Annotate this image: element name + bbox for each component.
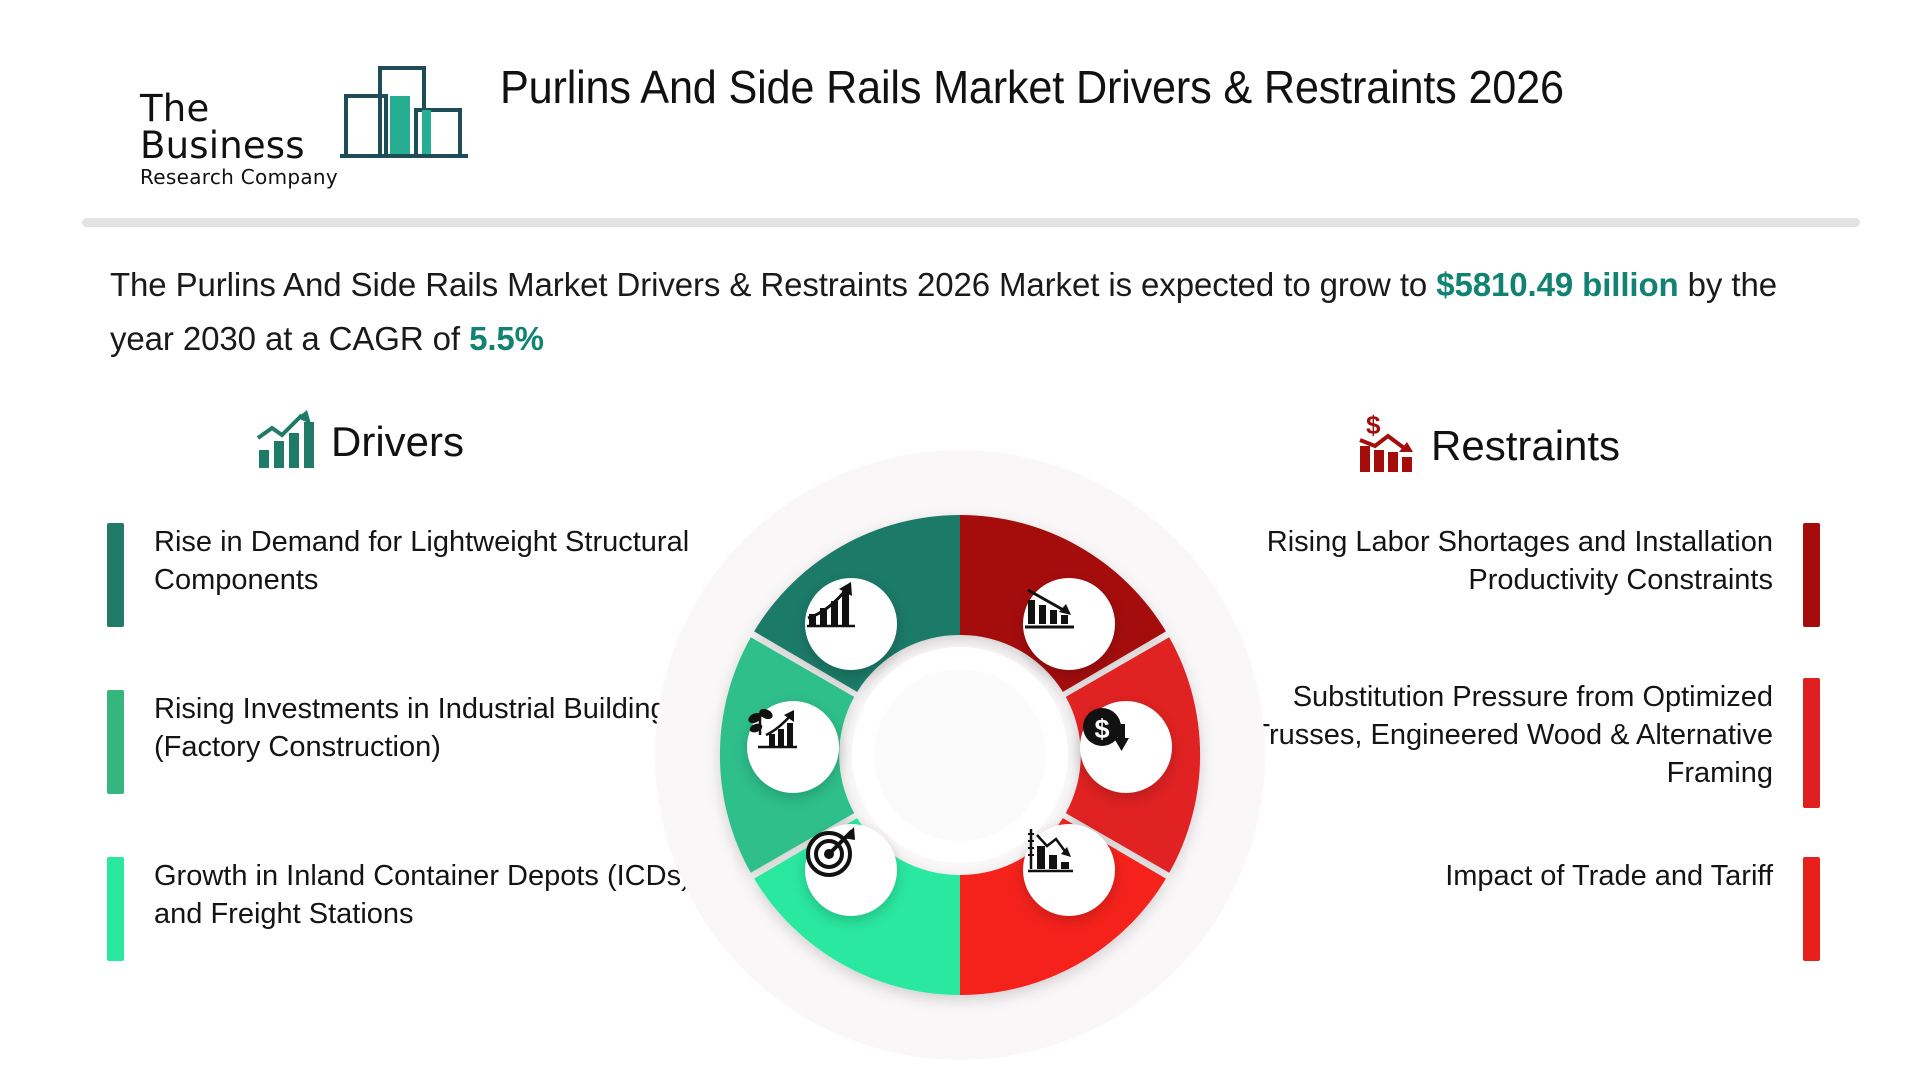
declining-bar-chart-arrow-icon xyxy=(1023,578,1115,670)
target-dartboard-icon xyxy=(805,824,897,916)
header-divider xyxy=(82,218,1860,227)
plant-growth-bar-chart-icon xyxy=(747,701,839,793)
driver-text-2: Rising Investments in Industrial Buildin… xyxy=(154,690,707,794)
summary-part-1: The Purlins And Side Rails Market Driver… xyxy=(110,266,1436,303)
driver-text-3: Growth in Inland Container Depots (ICDs)… xyxy=(154,857,727,961)
driver-text-1: Rise in Demand for Lightweight Structura… xyxy=(154,523,707,627)
falling-bar-chart-dollar-icon: $ xyxy=(1355,412,1417,479)
restraint-item-2: Substitution Pressure from Optimized Tru… xyxy=(1180,678,1820,808)
dollar-down-arrow-icon: $ xyxy=(1080,701,1172,793)
declining-line-bar-chart-icon xyxy=(1023,824,1115,916)
drivers-heading: Drivers xyxy=(255,408,464,475)
cagr-value: 5.5% xyxy=(469,320,544,357)
restraint-text-2: Substitution Pressure from Optimized Tru… xyxy=(1180,678,1773,808)
restraint-item-3: Impact of Trade and Tariff xyxy=(1230,857,1820,961)
logo-text: The Business Research Company xyxy=(140,90,345,187)
market-value: $5810.49 billion xyxy=(1436,266,1678,303)
page-title: Purlins And Side Rails Market Drivers & … xyxy=(500,54,1816,124)
restraints-label: Restraints xyxy=(1431,422,1620,470)
restraints-heading: $ Restraints xyxy=(1355,412,1620,479)
drivers-restraints-wheel: $ xyxy=(655,450,1265,1060)
market-summary-text: The Purlins And Side Rails Market Driver… xyxy=(110,258,1810,366)
restraint-accent-bar-2 xyxy=(1803,678,1820,808)
driver-item-2: Rising Investments in Industrial Buildin… xyxy=(107,690,707,794)
logo-line-2: Research Company xyxy=(140,167,345,187)
restraint-accent-bar-1 xyxy=(1803,523,1820,627)
growth-arrow-bar-chart-icon xyxy=(805,578,897,670)
svg-text:$: $ xyxy=(1366,412,1381,440)
driver-item-1: Rise in Demand for Lightweight Structura… xyxy=(107,523,707,627)
driver-accent-bar-3 xyxy=(107,857,124,961)
svg-text:$: $ xyxy=(1094,714,1109,744)
rising-bar-chart-icon xyxy=(255,408,317,475)
header: The Business Research Company Purlins An… xyxy=(0,0,1920,200)
company-logo: The Business Research Company xyxy=(140,48,470,163)
restraint-text-3: Impact of Trade and Tariff xyxy=(1445,857,1773,961)
driver-accent-bar-1 xyxy=(107,523,124,627)
restraint-accent-bar-3 xyxy=(1803,857,1820,961)
restraint-item-1: Rising Labor Shortages and Installation … xyxy=(1230,523,1820,627)
driver-accent-bar-2 xyxy=(107,690,124,794)
driver-item-3: Growth in Inland Container Depots (ICDs)… xyxy=(107,857,727,961)
drivers-label: Drivers xyxy=(331,418,464,466)
wheel-segments xyxy=(655,450,1265,1060)
logo-line-1: The Business xyxy=(140,90,345,164)
infographic-page: The Business Research Company Purlins An… xyxy=(0,0,1920,1080)
restraint-text-1: Rising Labor Shortages and Installation … xyxy=(1230,523,1773,627)
bar-chart-logo-icon xyxy=(338,48,470,163)
